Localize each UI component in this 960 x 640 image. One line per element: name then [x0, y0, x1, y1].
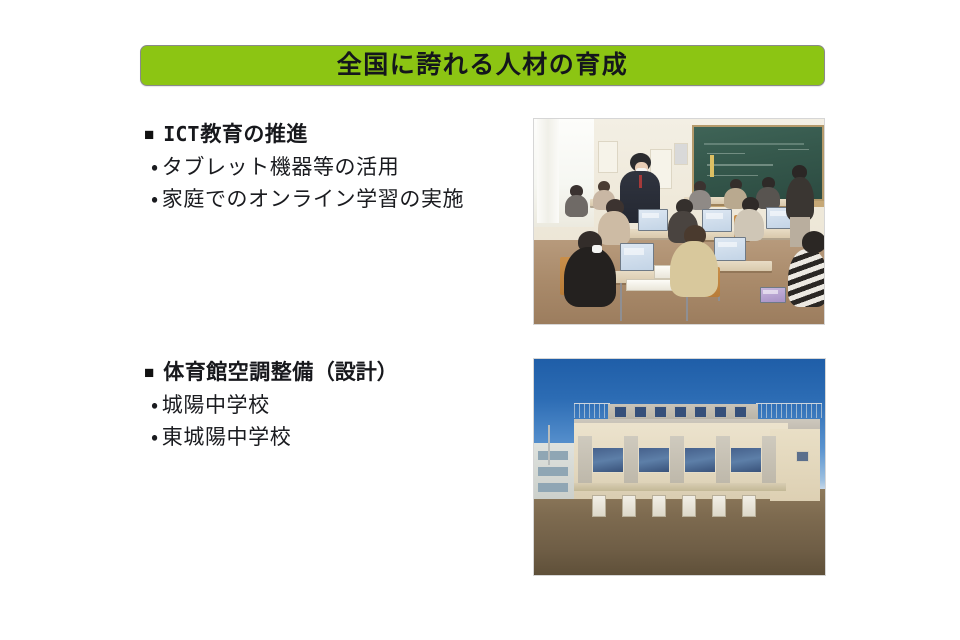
gymnasium-pier: [716, 436, 730, 486]
section-ict-heading: ■ ICT 教育の推進: [144, 124, 464, 145]
classroom-tablet: [714, 237, 746, 261]
classroom-tablet: [638, 209, 668, 231]
gymnasium-door: [622, 495, 636, 517]
classroom-curtain: [537, 119, 559, 223]
classroom-student: [802, 231, 824, 253]
gymnasium-window: [684, 447, 716, 473]
classroom-tablet: [620, 243, 654, 271]
middle-dot-icon: ・: [151, 156, 159, 179]
gymnasium-photo: [533, 358, 826, 576]
gymnasium-window: [592, 447, 624, 473]
gymnasium-pier: [578, 436, 592, 486]
middle-dot-icon: ・: [151, 394, 159, 417]
slide-title-banner: 全国に誇れる人材の育成: [140, 45, 825, 86]
gymnasium-clerestory-window: [714, 406, 727, 418]
classroom-teacher-tie: [639, 175, 642, 188]
classroom-student: [670, 241, 718, 297]
list-item-label: 城陽中学校: [162, 394, 270, 417]
classroom-poster: [598, 141, 618, 173]
gymnasium-pier: [624, 436, 638, 486]
classroom-student: [564, 247, 616, 307]
gymnasium-roof-fence: [574, 403, 610, 418]
section-ict-heading-jp: 教育の推進: [200, 124, 308, 145]
square-bullet-icon: ■: [144, 364, 154, 381]
gymnasium-door: [592, 495, 606, 517]
list-item: ・東城陽中学校: [144, 427, 398, 448]
gymnasium-flagpole: [548, 425, 550, 465]
gymnasium-door: [682, 495, 696, 517]
classroom-chalk-marker: [710, 155, 714, 177]
gymnasium-schoolyard: [534, 489, 825, 575]
classroom-student: [565, 195, 588, 217]
gymnasium-door: [712, 495, 726, 517]
classroom-ict-photo: [533, 118, 825, 325]
page-title: 全国に誇れる人材の育成: [337, 53, 629, 78]
classroom-poster: [674, 143, 688, 165]
classroom-student-mask: [592, 245, 602, 253]
gymnasium-adjacent-window: [538, 483, 568, 492]
gymnasium-photo-content: [534, 359, 825, 575]
list-item-label: 家庭でのオンライン学習の実施: [162, 188, 464, 211]
classroom-student: [598, 211, 630, 245]
section-gym-heading-jp: 体育館空調整備: [163, 362, 314, 383]
gymnasium-door: [652, 495, 666, 517]
gymnasium-adjacent-window: [538, 451, 568, 460]
list-item-label: 東城陽中学校: [162, 426, 292, 449]
gymnasium-clerestory-window: [694, 406, 707, 418]
gymnasium-pier: [762, 436, 776, 486]
gymnasium-adjacent-window: [538, 467, 568, 476]
middle-dot-icon: ・: [151, 426, 159, 449]
classroom-desk-leg: [620, 283, 622, 321]
list-item-label: タブレット機器等の活用: [162, 156, 400, 179]
gymnasium-roof-fence: [756, 403, 822, 418]
gymnasium-adjacent-building: [534, 443, 576, 499]
gymnasium-wall-vent: [796, 451, 809, 462]
gymnasium-door: [742, 495, 756, 517]
gymnasium-pier: [670, 436, 684, 486]
section-gym-heading-paren: （設計）: [314, 362, 398, 383]
classroom-student: [786, 177, 814, 221]
gymnasium-clerestory-window: [614, 406, 627, 418]
list-item: ・家庭でのオンライン学習の実施: [144, 189, 464, 210]
list-item: ・タブレット機器等の活用: [144, 157, 464, 178]
middle-dot-icon: ・: [151, 188, 159, 211]
slide-page: { "slide": { "title": "全国に誇れる人材の育成", "ti…: [0, 0, 960, 640]
list-item: ・城陽中学校: [144, 395, 398, 416]
section-ict-text: ■ ICT 教育の推進 ・タブレット機器等の活用 ・家庭でのオンライン学習の実施: [144, 124, 464, 210]
gymnasium-window: [730, 447, 762, 473]
gymnasium-canopy: [574, 483, 786, 491]
classroom-student: [788, 249, 824, 307]
classroom-photo-content: [534, 119, 824, 324]
gymnasium-clerestory-window: [654, 406, 667, 418]
square-bullet-icon: ■: [144, 126, 154, 143]
gymnasium-clerestory-window: [634, 406, 647, 418]
section-ict-heading-latin: ICT: [163, 124, 199, 144]
gymnasium-clerestory-window: [734, 406, 747, 418]
classroom-tablet: [702, 209, 732, 232]
classroom-student: [756, 187, 780, 209]
gymnasium-window: [638, 447, 670, 473]
section-gym-heading: ■ 体育館空調整備 （設計）: [144, 362, 398, 383]
section-gym-text: ■ 体育館空調整備 （設計） ・城陽中学校 ・東城陽中学校: [144, 362, 398, 448]
classroom-tablet: [760, 287, 786, 303]
gymnasium-clerestory-window: [674, 406, 687, 418]
